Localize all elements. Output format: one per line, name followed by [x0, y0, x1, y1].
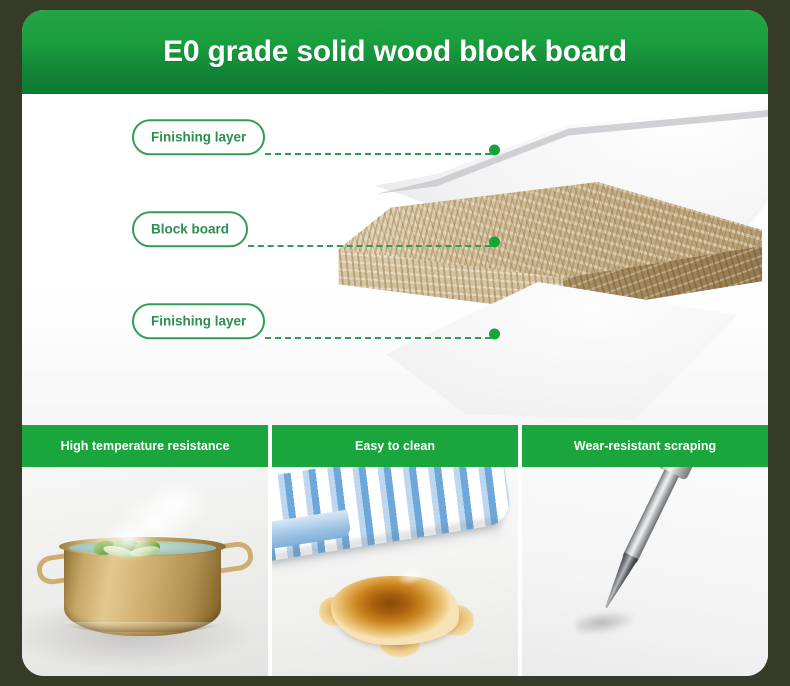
- callout-label-pill: Finishing layer: [132, 304, 265, 340]
- feature-label-high-temperature-resistance: High temperature resistance: [22, 425, 268, 467]
- feature-photo-row: [22, 467, 768, 676]
- callout-label-pill: Finishing layer: [132, 120, 265, 156]
- board-diagram-section: Finishing layer Block board Finishing la…: [22, 94, 768, 425]
- layered-board-cutaway-illustration: [352, 94, 768, 425]
- feature-label-wear-resistant-scraping: Wear-resistant scraping: [522, 425, 768, 467]
- product-infographic-frame: E0 grade solid wood block board Finishin…: [0, 0, 790, 686]
- callout-leader-line: [265, 337, 491, 339]
- page-title: E0 grade solid wood block board: [163, 35, 627, 69]
- tool-shaft: [623, 470, 679, 563]
- infographic-card: E0 grade solid wood block board Finishin…: [22, 10, 768, 676]
- header-banner: E0 grade solid wood block board: [22, 10, 768, 94]
- layer-dot-marker: [489, 144, 500, 155]
- callout-leader-line: [248, 245, 491, 247]
- steaming-pot-photo: [22, 467, 268, 676]
- layer-dot-marker: [489, 236, 500, 247]
- metal-scribe-photo: [522, 467, 768, 676]
- feature-label-bar-row: High temperature resistance Easy to clea…: [22, 425, 768, 467]
- steam-plume: [91, 509, 165, 559]
- tool-tip: [599, 553, 638, 612]
- scribe-tool: [591, 467, 695, 616]
- cloth-and-spill-photo: [272, 467, 518, 676]
- callout-leader-line: [265, 153, 491, 155]
- callout-label-pill: Block board: [132, 212, 248, 248]
- feature-label-easy-to-clean: Easy to clean: [272, 425, 518, 467]
- layer-dot-marker: [489, 328, 500, 339]
